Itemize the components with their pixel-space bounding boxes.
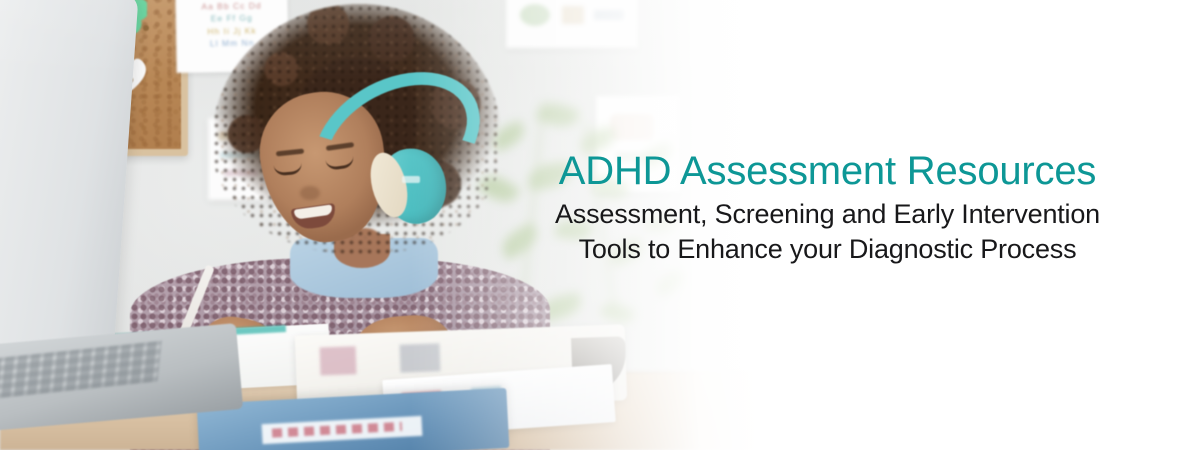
scribble [594,10,624,20]
nose [300,186,320,200]
headphone-logo [402,176,420,183]
subtitle-line-1: Assessment, Screening and Early Interven… [455,197,1200,232]
page-title: ADHD Assessment Resources [455,150,1200,192]
banner-text-block: ADHD Assessment Resources Assessment, Sc… [455,150,1200,266]
push-pin [143,25,149,31]
plant-leaf [654,269,689,298]
adhd-assessment-banner: Aa Bb Cc Dd Ee Ff Gg Hh Ii Jj Kk Ll Mm N… [0,0,1200,450]
subtitle-line-2: Tools to Enhance your Diagnostic Process [455,232,1200,267]
